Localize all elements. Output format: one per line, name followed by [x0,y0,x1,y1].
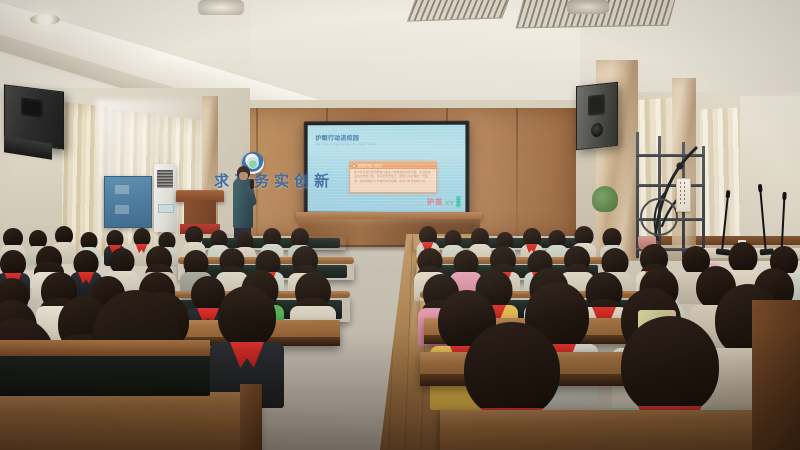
slide-callout-box: 爱眼护眼小知识 青少年近视已成为影响儿童青少年健康的突出问题，应当养成良好的用眼… [349,161,437,193]
callout-bullet-icon [352,164,356,168]
banner-char: 实 [274,174,289,189]
potted-plant [592,186,618,212]
callout-body-text: 青少年近视已成为影响儿童青少年健康的突出问题，应当养成良好的用眼习惯。读写姿势要… [354,171,432,184]
handheld-microphone-icon [250,179,254,189]
desk-end-panel [240,384,262,450]
notice-board [104,176,152,228]
auditorium-photo: 护眼行动进校园 Hu Yan Xing Dong Jin Xiao Yuan 爱… [0,0,800,450]
slide-logo-cn: 护苗 [427,197,443,207]
banner-char: 新 [314,174,329,189]
slide-logo: 护苗 XY [427,196,460,207]
bench-upholstery-front [0,352,210,396]
air-conditioner-unit [154,164,176,232]
presenter-face [239,172,248,180]
slide-title: 护眼行动进校园 [316,133,360,142]
hanging-scroll-card [676,178,691,212]
projection-screen[interactable]: 护眼行动进校园 Hu Yan Xing Dong Jin Xiao Yuan 爱… [304,121,470,218]
desk-front-left[interactable] [0,392,260,450]
projected-slide: 护眼行动进校园 Hu Yan Xing Dong Jin Xiao Yuan 爱… [308,125,466,213]
bench-rail-front [0,340,210,356]
banner-char: 求 [214,174,229,189]
right-wall-panel [740,96,800,246]
student [210,286,284,400]
wall-speaker-right [576,82,618,150]
slide-subtitle: Hu Yan Xing Dong Jin Xiao Yuan [316,142,377,146]
slide-logo-bar-icon [456,196,460,207]
banner-char: 务 [254,174,269,189]
ac-vent-grille [407,0,511,22]
desk-side-panel [752,300,800,450]
desk-front-right[interactable] [440,410,800,450]
shelf-ring-ornament-icon [640,198,678,236]
slide-logo-en: XY [445,201,454,207]
callout-header-text: 爱眼护眼小知识 [358,163,382,168]
ceiling-light-fixture [198,0,244,15]
slide-callout-header: 爱眼护眼小知识 [350,162,436,169]
ceiling-light-fixture [567,0,609,14]
ceiling-downlight [30,14,60,25]
banner-char: 创 [294,174,309,189]
